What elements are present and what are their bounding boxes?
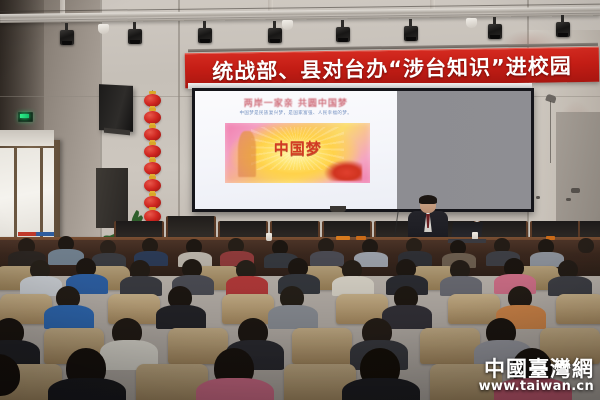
stage-light-icon-8 <box>556 20 570 37</box>
audience-shoulder <box>310 251 344 266</box>
audience-shoulder <box>226 276 268 296</box>
audience-shoulder <box>548 276 592 296</box>
wall-speaker-box <box>99 84 133 132</box>
stage-light-icon-5 <box>336 25 350 42</box>
audience-shoulder <box>156 305 206 329</box>
lantern-1 <box>144 94 161 107</box>
audience-shoulder <box>44 305 94 329</box>
audience-shoulder <box>196 378 274 400</box>
stage-light-icon-6 <box>404 24 418 41</box>
lantern-5 <box>144 162 161 175</box>
stage-light-icon-3 <box>198 26 212 43</box>
slide-graphic-china-dream: 中国梦 <box>225 123 370 183</box>
auditorium-seat <box>556 294 600 324</box>
wall-fixture-b <box>566 198 571 201</box>
banner-text: 统战部、县对台办“涉台知识”进校园 <box>212 50 572 86</box>
audience-head <box>578 238 594 253</box>
wall-fixture-c <box>536 196 540 199</box>
site-watermark: 中國臺灣網 www.taiwan.cn <box>479 358 594 394</box>
stage-light-icon-1 <box>60 28 74 45</box>
stage-light-icon-4 <box>268 26 282 43</box>
lantern-6 <box>144 179 161 192</box>
auditorium-seat <box>420 328 480 364</box>
exit-sign-glow <box>20 114 29 118</box>
spotlight-white-3 <box>466 18 477 28</box>
exit-sign <box>18 112 33 122</box>
audience-shoulder <box>332 276 374 296</box>
wall-fixture-a <box>571 188 580 193</box>
camera-cable <box>550 101 551 163</box>
photo-scene: 统战部、县对台办“涉台知识”进校园 两岸一家亲 共圆中国梦 中国梦是民族复兴梦，… <box>0 0 600 400</box>
slide-graphic-text: 中国梦 <box>225 138 370 159</box>
slide-graphic-flower <box>324 160 362 180</box>
audience-shoulder <box>342 378 420 400</box>
stage-light-icon-7 <box>488 22 502 39</box>
slide-subtitle: 中国梦是民族复兴梦，是国家富强、人民幸福的梦。 <box>195 110 397 116</box>
spotlight-white-2 <box>282 20 293 30</box>
spotlight-white-1 <box>98 24 109 34</box>
audience-shoulder <box>120 276 162 296</box>
right-wall-recess <box>556 112 600 232</box>
projection-screen: 两岸一家亲 共圆中国梦 中国梦是民族复兴梦，是国家富强、人民幸福的梦。 中国梦 <box>192 88 534 212</box>
projected-slide: 两岸一家亲 共圆中国梦 中国梦是民族复兴梦，是国家富强、人民幸福的梦。 中国梦 <box>195 91 397 209</box>
auditorium-seat <box>292 328 352 364</box>
lantern-3 <box>144 128 161 141</box>
audience-shoulder <box>440 276 482 296</box>
watermark-site-name: 中國臺灣網 <box>479 358 594 380</box>
lantern-2 <box>144 111 161 124</box>
audience-shoulder <box>268 305 318 329</box>
projection-screen-foot <box>330 206 346 212</box>
slide-title: 两岸一家亲 共圆中国梦 <box>195 96 397 109</box>
wall-seam-vertical-a <box>100 0 102 270</box>
speaker-hair <box>419 195 437 204</box>
stage-light-icon-2 <box>128 27 142 44</box>
watermark-url: www.taiwan.cn <box>479 380 594 394</box>
door-transom <box>0 130 54 146</box>
lantern-4 <box>144 145 161 158</box>
lantern-string <box>144 90 162 220</box>
audience-shoulder <box>48 378 126 400</box>
